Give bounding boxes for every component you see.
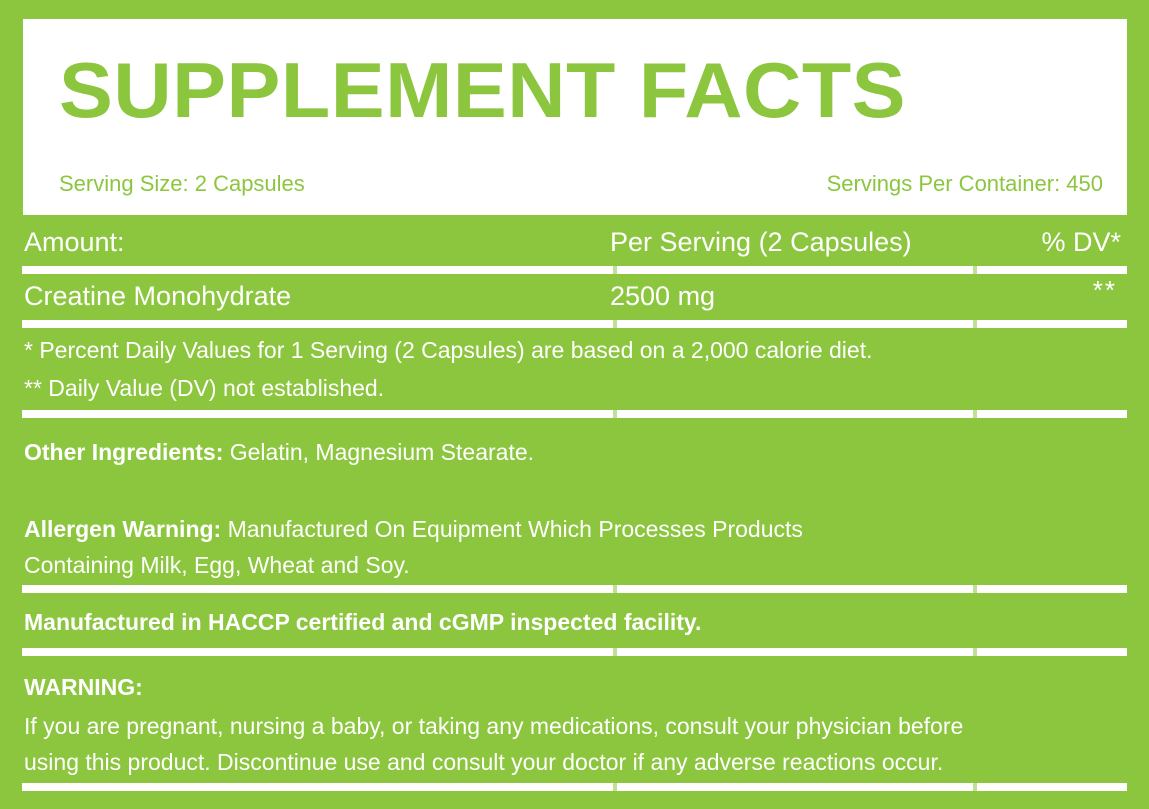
footnote-percent-daily-value: * Percent Daily Values for 1 Serving (2 … [24, 336, 1129, 364]
divider-segment [617, 266, 973, 274]
divider-segment [977, 648, 1127, 656]
divider-segment [617, 410, 973, 418]
divider-segment [617, 585, 973, 593]
divider-segment [617, 783, 973, 791]
ingredient-daily-value: ** [1093, 274, 1117, 306]
divider-gap [613, 320, 617, 328]
divider-gap [973, 585, 977, 593]
divider-segment [977, 410, 1127, 418]
other-ingredients-block: Other Ingredients: Gelatin, Magnesium St… [24, 437, 1128, 467]
divider-segment [22, 783, 613, 791]
warning-line1: If you are pregnant, nursing a baby, or … [24, 713, 963, 739]
divider-segment [977, 783, 1127, 791]
serving-size-text: Serving Size: 2 Capsules [59, 171, 305, 197]
divider-above-warning [22, 648, 1127, 656]
column-header-dv: % DV* [1041, 226, 1121, 258]
divider-segment [977, 585, 1127, 593]
ingredient-amount: 2500 mg [610, 280, 715, 312]
divider-segment [617, 648, 973, 656]
divider-segment [22, 266, 613, 274]
supplement-facts-label: SUPPLEMENT FACTS Serving Size: 2 Capsule… [0, 0, 1149, 809]
divider-gap [973, 320, 977, 328]
servings-per-container-text: Servings Per Container: 450 [827, 171, 1103, 197]
divider-segment [977, 320, 1127, 328]
divider-gap [613, 585, 617, 593]
column-header-per-serving: Per Serving (2 Capsules) [610, 226, 912, 258]
allergen-warning-label: Allergen Warning: [24, 516, 221, 542]
divider-gap [973, 648, 977, 656]
warning-label: WARNING: [24, 673, 1128, 701]
divider-segment [977, 266, 1127, 274]
divider-segment [22, 320, 613, 328]
allergen-warning-line1: Manufactured On Equipment Which Processe… [228, 516, 803, 542]
warning-line2: using this product. Discontinue use and … [24, 749, 943, 775]
divider-gap [613, 783, 617, 791]
divider-gap [613, 410, 617, 418]
divider-segment [22, 648, 613, 656]
divider-above-manufacturing [22, 585, 1127, 593]
ingredient-name: Creatine Monohydrate [24, 280, 291, 312]
serving-info-row: Serving Size: 2 Capsules Servings Per Co… [59, 171, 1103, 197]
divider-gap [973, 783, 977, 791]
divider-bottom [22, 783, 1127, 791]
divider-under-ingredient-row [22, 320, 1127, 328]
header-panel: SUPPLEMENT FACTS Serving Size: 2 Capsule… [23, 19, 1127, 215]
page-title: SUPPLEMENT FACTS [59, 51, 1127, 129]
divider-gap [613, 648, 617, 656]
divider-gap [973, 410, 977, 418]
divider-under-footnotes [22, 410, 1127, 418]
divider-segment [617, 320, 973, 328]
divider-gap [973, 266, 977, 274]
divider-under-table-header [22, 266, 1127, 274]
divider-segment [22, 410, 613, 418]
warning-body: If you are pregnant, nursing a baby, or … [24, 708, 1134, 780]
allergen-warning-block: Allergen Warning: Manufactured On Equipm… [24, 511, 1128, 583]
manufacturing-statement: Manufactured in HACCP certified and cGMP… [24, 607, 1128, 637]
footnote-dv-not-established: ** Daily Value (DV) not established. [24, 374, 1129, 402]
divider-segment [22, 585, 613, 593]
allergen-warning-line2: Containing Milk, Egg, Wheat and Soy. [24, 552, 410, 578]
column-header-amount: Amount: [24, 226, 125, 258]
divider-gap [613, 266, 617, 274]
other-ingredients-label: Other Ingredients: [24, 439, 223, 465]
other-ingredients-value: Gelatin, Magnesium Stearate. [230, 439, 534, 465]
